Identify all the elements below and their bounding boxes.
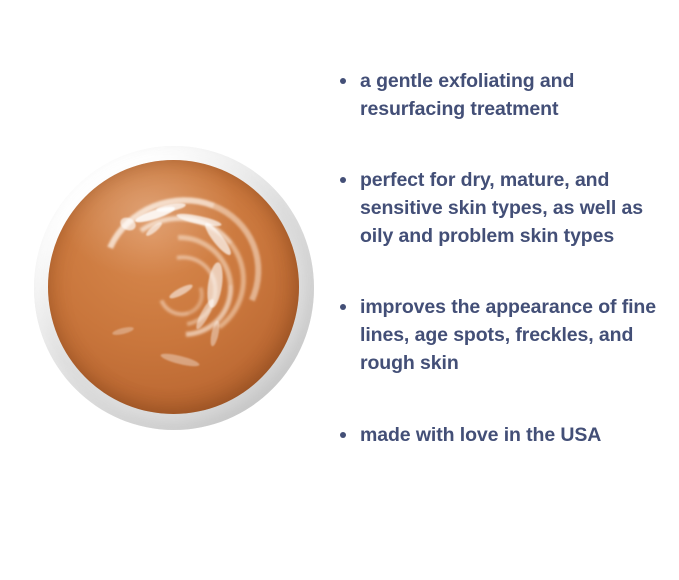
benefit-item-1: a gentle exfoliating and resurfacing tre… — [336, 68, 672, 123]
bullet-dot-icon — [340, 304, 346, 310]
benefit-text: perfect for dry, mature, and sensitive s… — [360, 167, 672, 250]
product-infographic-page: a gentle exfoliating and resurfacing tre… — [0, 0, 679, 580]
benefit-item-2: perfect for dry, mature, and sensitive s… — [336, 167, 672, 250]
cream-sheen — [48, 160, 299, 414]
benefit-item-4: made with love in the USA — [336, 422, 672, 450]
bullet-dot-icon — [340, 78, 346, 84]
benefit-text: a gentle exfoliating and resurfacing tre… — [360, 68, 672, 123]
bullet-dot-icon — [340, 177, 346, 183]
bullet-dot-icon — [340, 432, 346, 438]
benefit-text: improves the appearance of fine lines, a… — [360, 294, 672, 377]
benefit-item-3: improves the appearance of fine lines, a… — [336, 294, 672, 377]
benefit-text: made with love in the USA — [360, 422, 672, 450]
benefits-list: a gentle exfoliating and resurfacing tre… — [336, 68, 672, 449]
product-image-jar-of-cream — [34, 146, 314, 430]
cream-surface — [48, 160, 299, 414]
